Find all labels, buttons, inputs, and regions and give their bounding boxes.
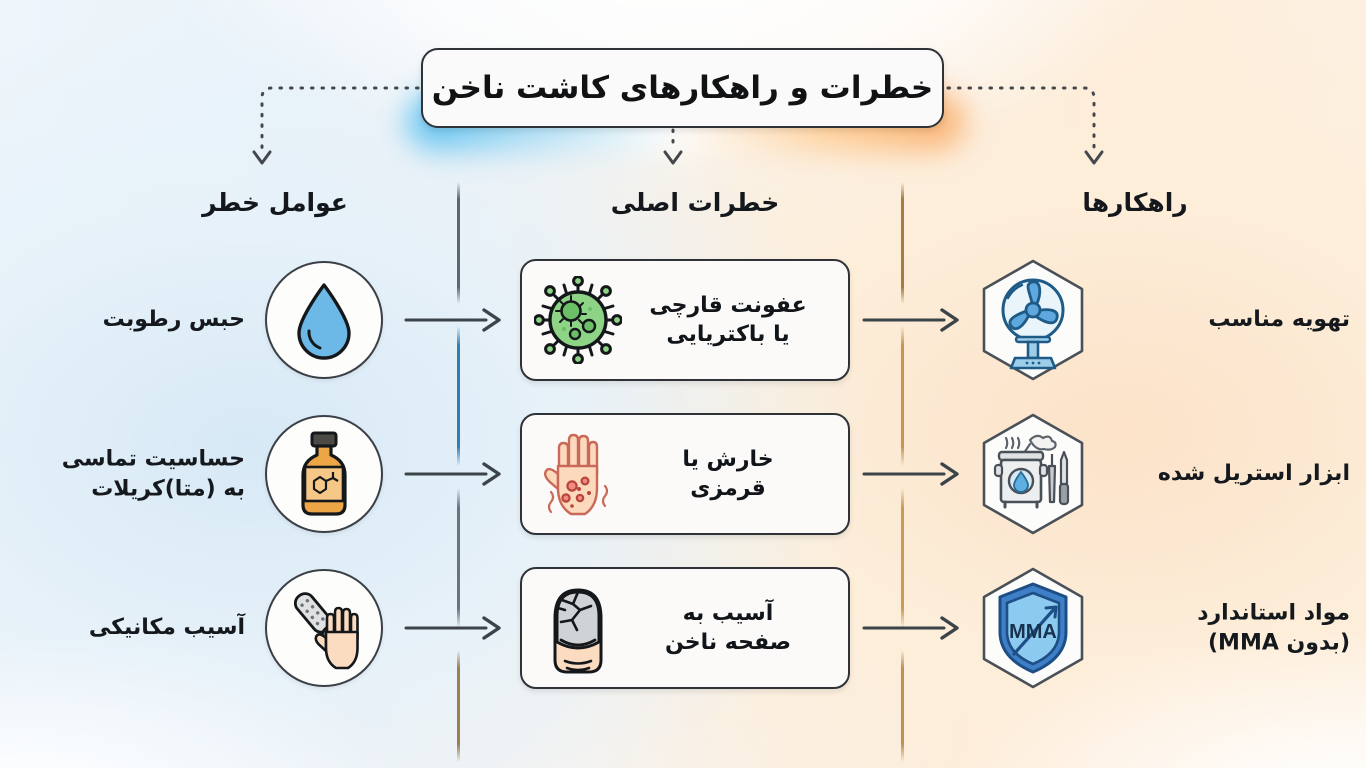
arrow-risk-to-main-2 xyxy=(404,459,506,489)
main-risk-card-1: عفونت قارچی یا باکتریایی xyxy=(520,259,850,381)
main-risk-label-3: آسیب به صفحه ناخن xyxy=(624,599,832,657)
column-header-risk-factors: عوامل خطر xyxy=(145,188,405,217)
risk-factor-label-3: آسیب مکانیکی xyxy=(0,613,255,643)
water-droplet-icon xyxy=(265,261,383,379)
arrowhead-middle-icon xyxy=(665,152,681,163)
cracked-nail-icon xyxy=(532,580,624,676)
irritated-hand-icon xyxy=(532,426,624,522)
title-box: خطرات و راهکارهای کاشت ناخن xyxy=(421,48,944,128)
risk-factor-label-1: حبس رطوبت xyxy=(0,305,255,335)
column-header-main-risks: خطرات اصلی xyxy=(550,188,840,217)
solution-label-3: مواد استاندارد (بدون MMA) xyxy=(1108,598,1358,657)
arrow-main-to-solution-2 xyxy=(862,459,964,489)
arrow-risk-to-main-3 xyxy=(404,613,506,643)
sterilizer-icon xyxy=(978,412,1088,536)
arrow-main-to-solution-3 xyxy=(862,613,964,643)
page-title: خطرات و راهکارهای کاشت ناخن xyxy=(432,70,934,106)
fan-icon xyxy=(978,258,1088,382)
microbe-icon xyxy=(532,272,624,368)
risk-factor-label-2: حساسیت تماسی به (متا)کریلات xyxy=(0,444,255,503)
column-header-solutions: راهکارها xyxy=(1005,188,1265,217)
mma-badge-text: MMA xyxy=(1009,621,1057,643)
main-risk-card-3: آسیب به صفحه ناخن xyxy=(520,567,850,689)
arrow-main-to-solution-1 xyxy=(862,305,964,335)
arrowhead-right-icon xyxy=(1086,152,1102,163)
main-risk-label-1: عفونت قارچی یا باکتریایی xyxy=(624,291,832,349)
chemical-bottle-icon xyxy=(265,415,383,533)
main-risk-label-2: خارش یا قرمزی xyxy=(624,445,832,503)
main-risk-card-2: خارش یا قرمزی xyxy=(520,413,850,535)
mma-shield-icon: MMA xyxy=(978,566,1088,690)
arrowhead-left-icon xyxy=(254,152,270,163)
connector-left xyxy=(262,88,418,150)
solution-label-1: تهویه مناسب xyxy=(1108,305,1358,335)
arrow-risk-to-main-1 xyxy=(404,305,506,335)
nail-file-hand-icon xyxy=(265,569,383,687)
solution-label-2: ابزار استریل شده xyxy=(1108,459,1358,489)
infographic-canvas: خطرات و راهکارهای کاشت ناخن عوامل خطر خط… xyxy=(0,0,1366,768)
connector-right xyxy=(948,88,1094,150)
